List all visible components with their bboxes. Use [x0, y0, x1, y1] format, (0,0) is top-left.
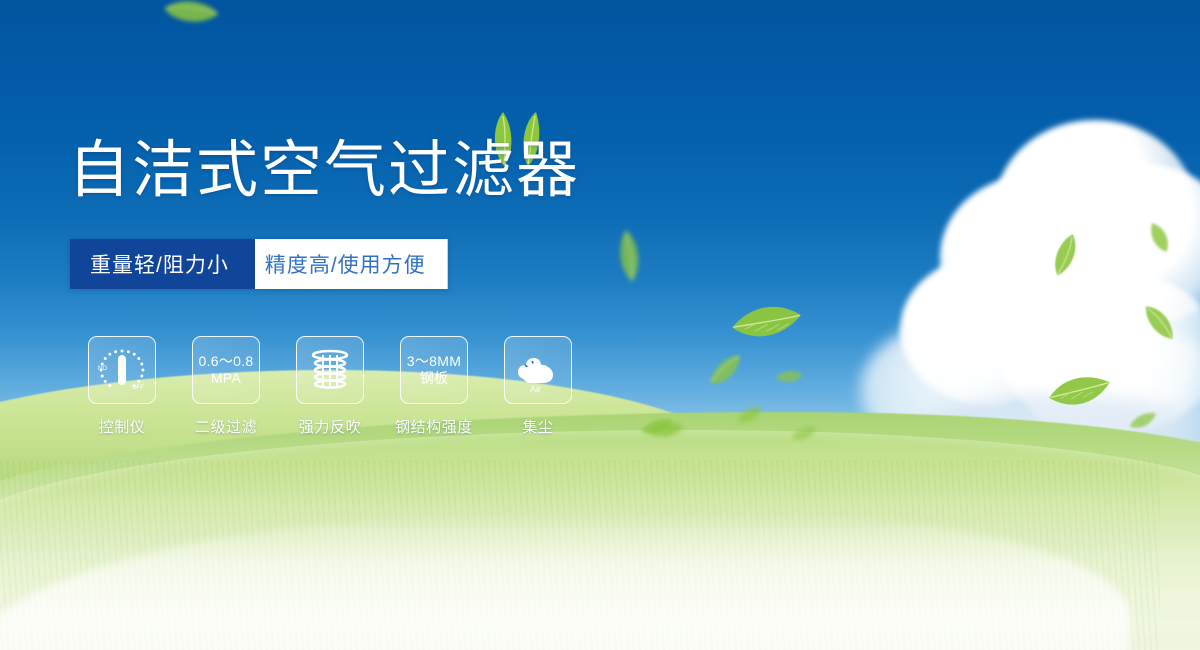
feature-label: 控制仪	[99, 416, 146, 437]
feature-icon-box: Air	[504, 336, 572, 404]
air-cloud-icon: Air	[512, 344, 564, 396]
feature-badge: 重量轻/阻力小 精度高/使用方便	[70, 239, 448, 289]
page-title: 自洁式空气过滤器	[68, 140, 580, 202]
steel-thickness: 3～8MM	[407, 353, 461, 370]
steel-material: 钢板	[407, 370, 461, 387]
feature-item-control[interactable]: NO OFF 控制仪	[70, 336, 174, 437]
badge-left-text: 重量轻/阻力小	[70, 239, 255, 289]
feature-icon-box: 0.6～0.8 MPA	[192, 336, 260, 404]
filter-coil-icon	[304, 344, 356, 396]
feature-icon-box	[296, 336, 364, 404]
pressure-unit: MPA	[198, 370, 253, 387]
feature-list: NO OFF 控制仪 0.6～0.8 MPA 二级过滤	[70, 336, 590, 437]
svg-text:OFF: OFF	[132, 385, 144, 391]
feature-icon-box: NO OFF	[88, 336, 156, 404]
pressure-value-icon: 0.6～0.8 MPA	[198, 353, 253, 386]
feature-label: 强力反吹	[299, 416, 361, 437]
air-caption: Air	[530, 384, 541, 394]
feature-item-steel[interactable]: 3～8MM 钢板 钢结构强度	[382, 336, 486, 437]
product-hero-banner: 自洁式空气过滤器 重量轻/阻力小 精度高/使用方便	[0, 0, 1200, 650]
feature-icon-box: 3～8MM 钢板	[400, 336, 468, 404]
pressure-range: 0.6～0.8	[198, 353, 253, 370]
feature-item-filter[interactable]: 0.6～0.8 MPA 二级过滤	[174, 336, 278, 437]
feature-label: 钢结构强度	[395, 416, 473, 437]
feature-item-dust[interactable]: Air 集尘	[486, 336, 590, 437]
feature-label: 集尘	[522, 416, 553, 437]
gauge-dial-icon: NO OFF	[96, 344, 148, 396]
feature-item-blowback[interactable]: 强力反吹	[278, 336, 382, 437]
feature-label: 二级过滤	[195, 416, 257, 437]
svg-text:NO: NO	[98, 366, 107, 372]
badge-right-text: 精度高/使用方便	[241, 239, 448, 289]
banner-content: 自洁式空气过滤器 重量轻/阻力小 精度高/使用方便	[0, 0, 1200, 650]
steel-plate-value-icon: 3～8MM 钢板	[407, 353, 461, 386]
